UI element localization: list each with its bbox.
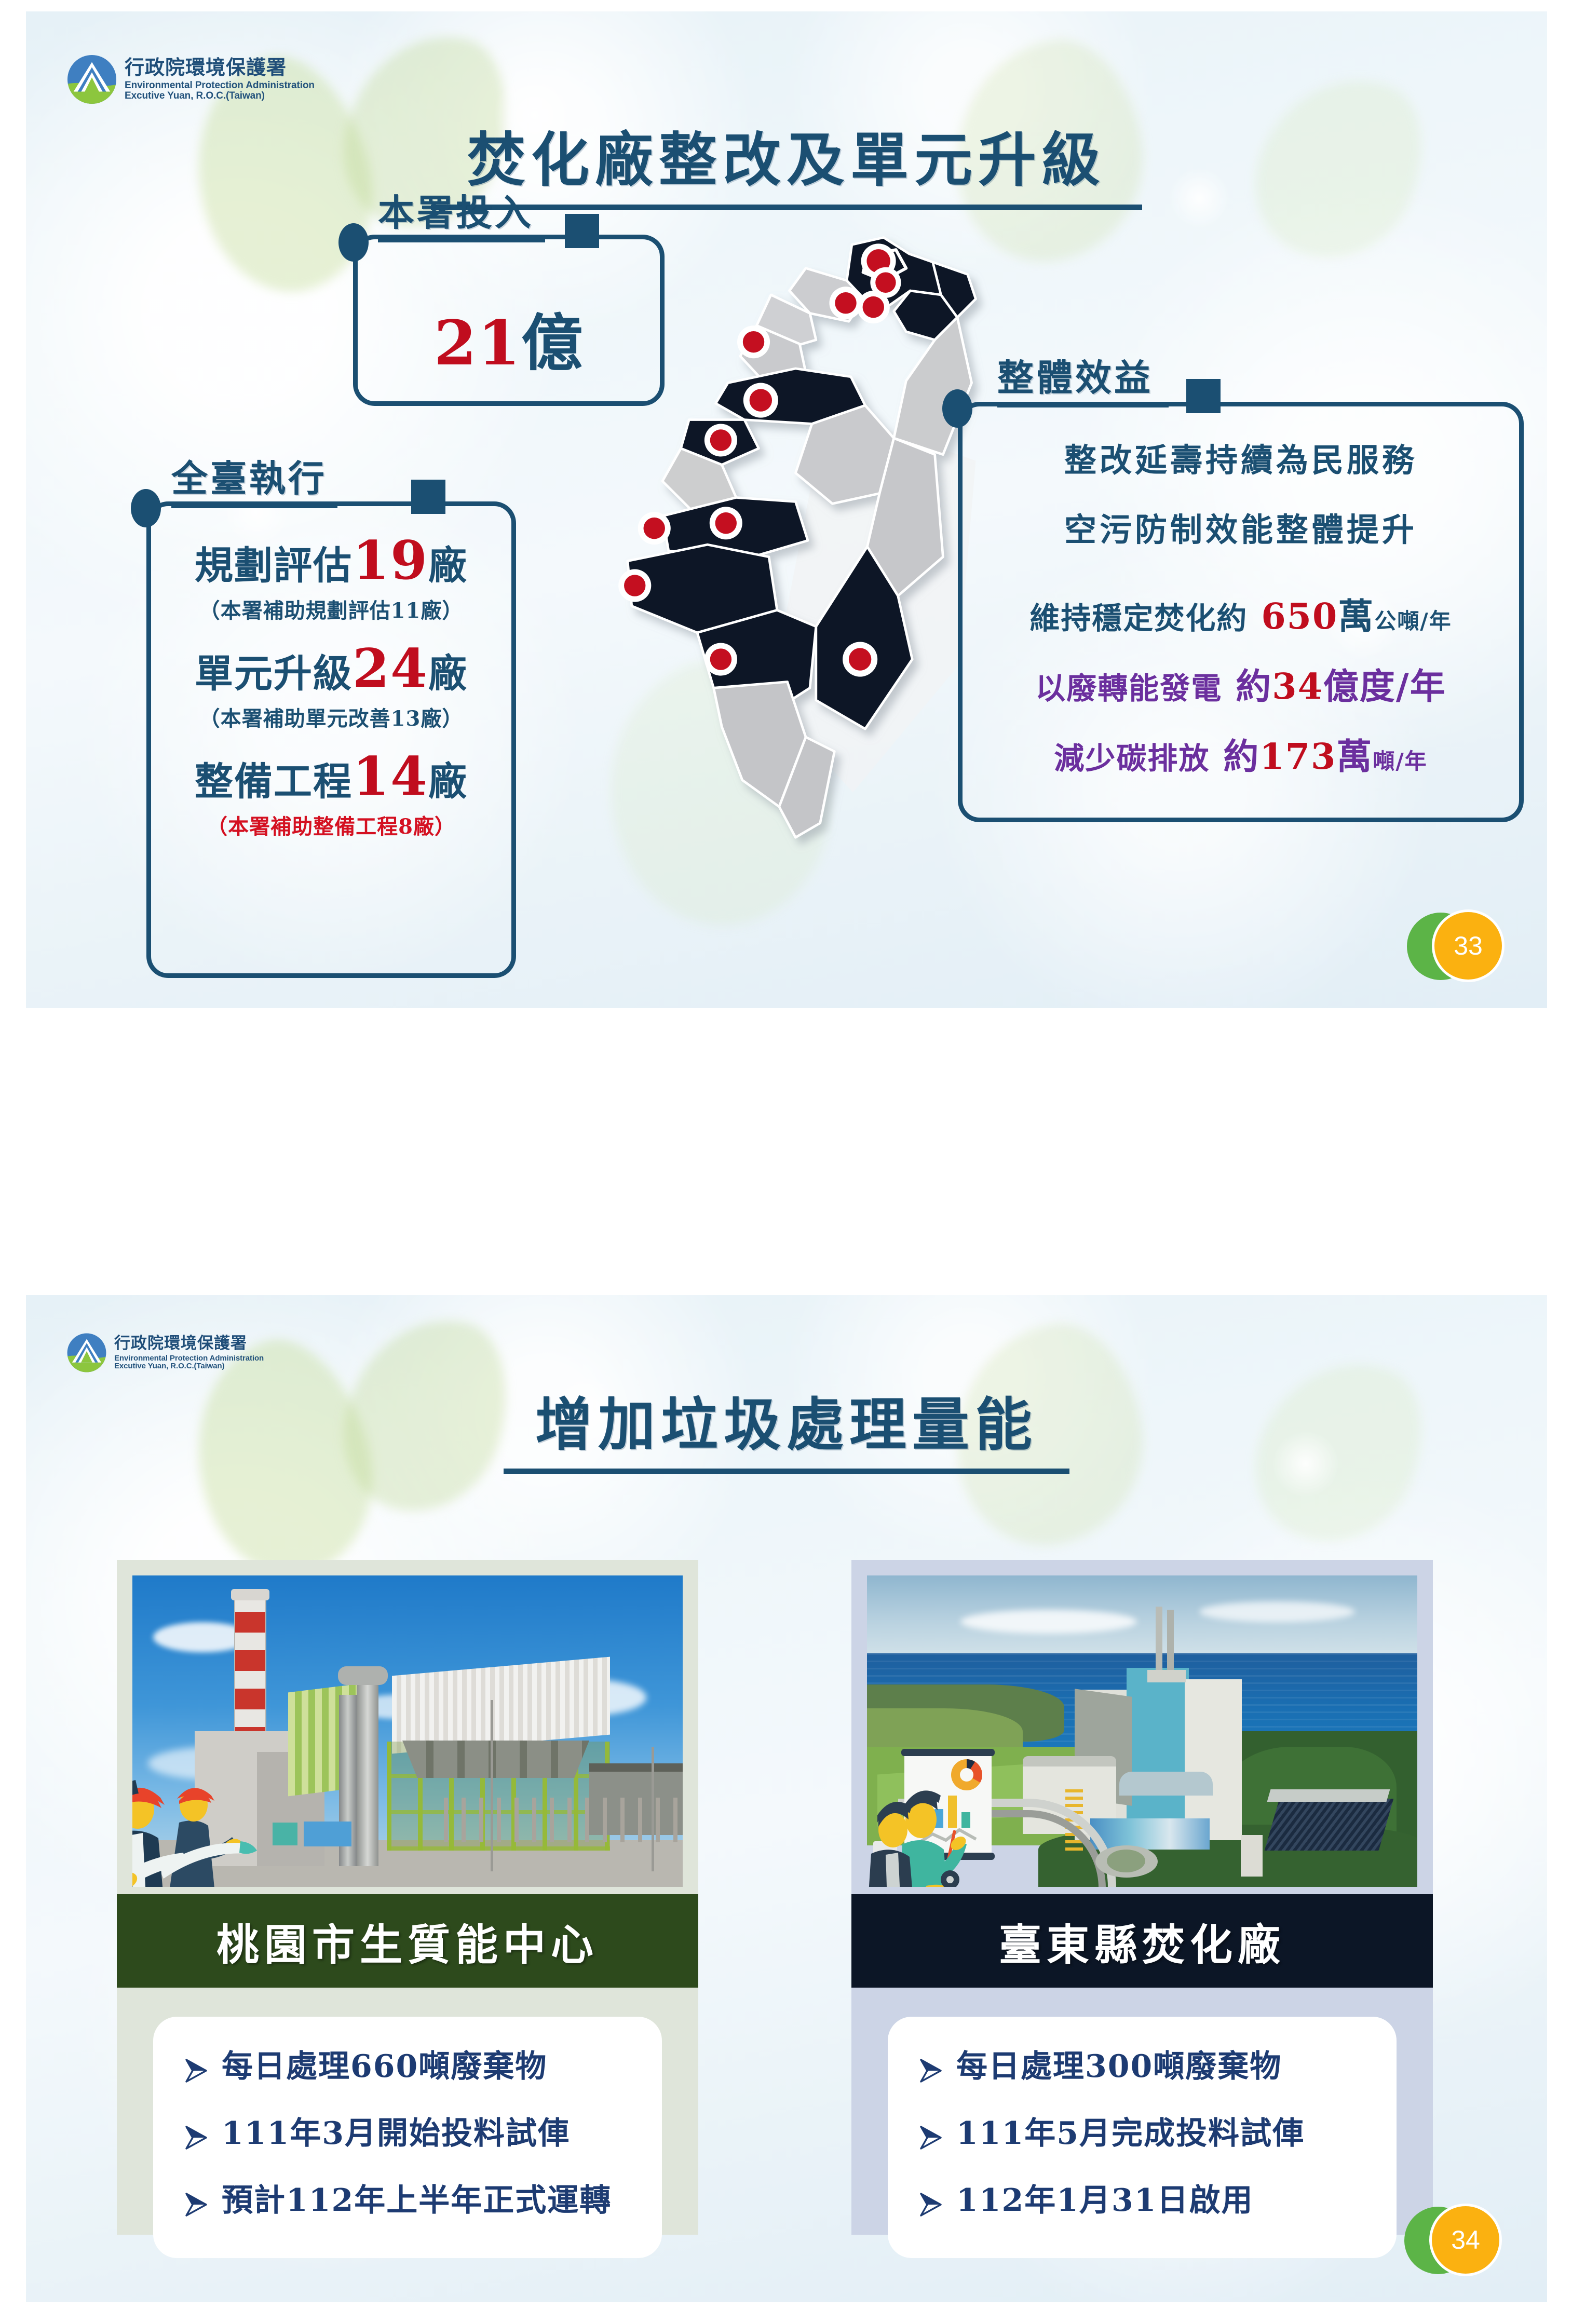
logo-english-line-1: Environmental Protection Administration	[114, 1354, 264, 1363]
list-item: 112年1月31日啟用	[919, 2185, 1368, 2220]
benefits-label: 整體效益	[997, 356, 1153, 399]
logo-chinese-name: 行政院環境保護署	[125, 58, 315, 78]
arrow-bullet-icon	[919, 2125, 943, 2153]
execution-row-suffix: 廠	[428, 759, 468, 804]
benefit-stat: 維持穩定焚化約 650萬公噸/年	[958, 588, 1524, 639]
epa-logo: 行政院環境保護署 Environmental Protection Admini…	[66, 1333, 264, 1373]
investment-label-wrap: 本署投入	[378, 184, 545, 242]
page-title-text: 焚化廠整改及單元升級	[467, 126, 1106, 194]
benefit-stat-label: 維持穩定焚化約	[1029, 594, 1248, 637]
execution-rows: 規劃評估19廠 （本署補助規劃評估11廠） 單元升級24廠 （本署補助單元改善1…	[146, 534, 516, 840]
plant-card-taoyuan: 桃園市生質能中心 每日處理660噸廢棄物	[117, 1560, 698, 2235]
benefit-stat-label: 減少碳排放	[1054, 734, 1210, 778]
benefit-headline: 空污防制效能整體提升	[958, 504, 1524, 550]
investment-amount: 21億	[353, 312, 665, 374]
page-number: 33	[1454, 931, 1483, 961]
logo-english-line-2: Excutive Yuan, R.O.C.(Taiwan)	[125, 91, 315, 101]
epa-mountain-emblem-icon	[66, 54, 117, 105]
page-number: 34	[1451, 2225, 1480, 2255]
arrow-bullet-icon	[184, 2058, 208, 2086]
taitung-banner-text: 臺東縣焚化廠	[999, 1910, 1285, 1972]
callout-square-marker	[1186, 379, 1221, 413]
slide-capacity-increase: 行政院環境保護署 Environmental Protection Admini…	[26, 1295, 1547, 2302]
callout-dot-marker	[338, 223, 369, 262]
benefit-stat-prefix: 約	[1236, 666, 1272, 708]
logo-english-line-2: Excutive Yuan, R.O.C.(Taiwan)	[114, 1362, 264, 1370]
taiwan-map	[613, 219, 1007, 956]
execution-row-text: 整備工程	[195, 759, 353, 804]
arrow-bullet-icon	[919, 2192, 943, 2220]
taitung-banner: 臺東縣焚化廠	[851, 1894, 1433, 1988]
taoyuan-banner: 桃園市生質能中心	[117, 1894, 698, 1988]
benefit-stat-label: 以廢轉能發電	[1035, 664, 1222, 708]
list-item: 每日處理300噸廢棄物	[919, 2051, 1368, 2086]
benefit-stat-small: /年	[1396, 666, 1446, 708]
benefit-stat-small: 噸/年	[1373, 749, 1427, 774]
list-item-text: 111年5月完成投料試俥	[956, 2118, 1305, 2149]
benefits-label-underline	[997, 403, 1169, 407]
callout-dot-marker	[131, 489, 161, 527]
benefit-stat: 減少碳排放 約173萬噸/年	[958, 728, 1524, 779]
benefit-stat-unit: 萬	[1338, 596, 1374, 637]
taoyuan-banner-text: 桃園市生質能中心	[216, 1910, 599, 1972]
page-number-badge: 33	[1407, 909, 1506, 993]
logo-english-line-1: Environmental Protection Administration	[125, 80, 315, 91]
epa-mountain-emblem-icon	[66, 1333, 107, 1373]
execution-label-underline	[171, 504, 337, 508]
benefit-stat-number: 173	[1259, 736, 1336, 778]
list-item: 111年5月完成投料試俥	[919, 2118, 1368, 2153]
execution-callout: 全臺執行 規劃評估19廠 （本署補助規劃評估11廠） 單元升級24廠 （本署補助…	[146, 501, 516, 978]
benefit-stat-unit: 億度	[1323, 666, 1396, 708]
taitung-plant-photo	[867, 1575, 1417, 1887]
execution-row: 規劃評估19廠 （本署補助規劃評估11廠）	[146, 534, 516, 624]
list-item-text: 每日處理660噸廢棄物	[222, 2051, 547, 2082]
benefits-callout: 整體效益 整改延壽持續為民服務 空污防制效能整體提升 維持穩定焚化約 650萬公…	[958, 402, 1524, 822]
execution-label: 全臺執行	[171, 457, 327, 500]
benefits-label-wrap: 整體效益	[997, 349, 1169, 407]
execution-row-count: 19	[353, 529, 428, 592]
page-number-badge: 34	[1404, 2204, 1503, 2287]
taitung-bullet-list: 每日處理300噸廢棄物 111年5月完成投料試俥	[888, 2017, 1397, 2258]
execution-row: 單元升級24廠 （本署補助單元改善13廠）	[146, 642, 516, 732]
investment-amount-number: 21	[434, 307, 521, 379]
badge-amber-circle: 34	[1429, 2204, 1502, 2276]
badge-amber-circle: 33	[1432, 909, 1505, 982]
list-item: 111年3月開始投料試俥	[184, 2118, 634, 2153]
execution-row-note: （本署補助整備工程8廠）	[146, 810, 516, 840]
page-title: 增加垃圾處理量能	[26, 1378, 1547, 1474]
benefits-content: 整改延壽持續為民服務 空污防制效能整體提升 維持穩定焚化約 650萬公噸/年 以…	[958, 434, 1524, 779]
execution-row-text: 單元升級	[195, 651, 353, 696]
callout-dot-marker	[942, 389, 972, 428]
slide-incinerator-upgrade: 行政院環境保護署 Environmental Protection Admini…	[26, 11, 1547, 1008]
execution-row-note: （本署補助規劃評估11廠）	[146, 594, 516, 624]
list-item-text: 每日處理300噸廢棄物	[956, 2051, 1282, 2082]
arrow-bullet-icon	[184, 2192, 208, 2220]
list-item: 每日處理660噸廢棄物	[184, 2051, 634, 2086]
investment-amount-unit: 億	[521, 307, 584, 379]
investment-label-underline	[378, 238, 545, 242]
arrow-bullet-icon	[184, 2125, 208, 2153]
execution-row-text: 規劃評估	[195, 543, 353, 588]
taoyuan-plant-photo	[132, 1575, 683, 1887]
execution-row-count: 24	[353, 637, 428, 700]
execution-row-suffix: 廠	[428, 651, 468, 696]
execution-row-count: 14	[353, 745, 428, 808]
benefit-stat-number: 34	[1272, 666, 1323, 708]
execution-label-wrap: 全臺執行	[171, 450, 337, 508]
epa-logo: 行政院環境保護署 Environmental Protection Admini…	[66, 54, 315, 105]
list-item-text: 預計112年上半年正式運轉	[222, 2185, 612, 2216]
list-item: 預計112年上半年正式運轉	[184, 2185, 634, 2220]
execution-row: 整備工程14廠 （本署補助整備工程8廠）	[146, 750, 516, 840]
plant-card-taitung: 臺東縣焚化廠 每日處理300噸廢棄物 1	[851, 1560, 1433, 2235]
benefit-stat-small: 公噸/年	[1374, 608, 1452, 634]
page-title: 焚化廠整改及單元升級	[26, 113, 1547, 210]
investment-callout: 本署投入 21億	[353, 235, 665, 406]
taoyuan-bullet-list: 每日處理660噸廢棄物 111年3月開始投料試俥	[153, 2017, 662, 2258]
benefit-stat-unit: 萬	[1336, 736, 1373, 778]
logo-chinese-name: 行政院環境保護署	[114, 1335, 264, 1352]
callout-square-marker	[565, 214, 599, 248]
callout-square-marker	[411, 480, 445, 514]
investment-label: 本署投入	[378, 191, 534, 234]
title-underline	[504, 1469, 1069, 1474]
execution-row-note: （本署補助單元改善13廠）	[146, 702, 516, 732]
arrow-bullet-icon	[919, 2058, 943, 2086]
benefit-stat-number: 650	[1261, 596, 1338, 637]
list-item-text: 111年3月開始投料試俥	[222, 2118, 570, 2149]
page-title-text: 增加垃圾處理量能	[535, 1391, 1038, 1458]
list-item-text: 112年1月31日啟用	[956, 2185, 1254, 2216]
benefit-stat-prefix: 約	[1223, 736, 1259, 778]
execution-row-suffix: 廠	[428, 543, 468, 588]
benefit-headline: 整改延壽持續為民服務	[958, 434, 1524, 481]
benefit-stat: 以廢轉能發電 約34億度/年	[958, 658, 1524, 709]
